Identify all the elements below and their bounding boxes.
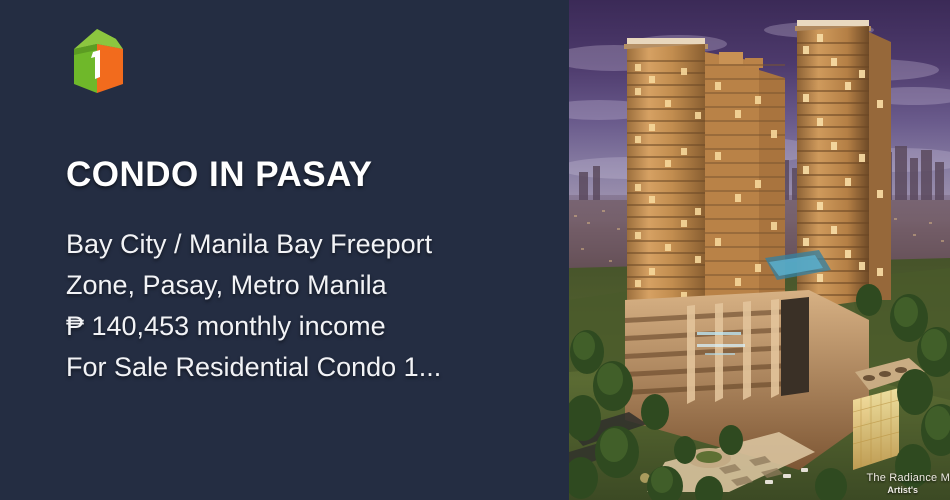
location-line-2: Zone, Pasay, Metro Manila xyxy=(66,265,569,306)
property-photo: The Radiance M Artist's xyxy=(569,0,950,500)
location-line-1: Bay City / Manila Bay Freeport xyxy=(66,224,569,265)
listing-info-panel: CONDO IN PASAY Bay City / Manila Bay Fre… xyxy=(0,0,569,500)
listing-details: Bay City / Manila Bay Freeport Zone, Pas… xyxy=(66,224,569,388)
house-one-logo-icon xyxy=(66,27,128,99)
listing-card: CONDO IN PASAY Bay City / Manila Bay Fre… xyxy=(0,0,950,500)
page-title: CONDO IN PASAY xyxy=(66,157,569,194)
price-line: ₱ 140,453 monthly income xyxy=(66,306,569,347)
property-type-line: For Sale Residential Condo 1... xyxy=(66,347,569,388)
